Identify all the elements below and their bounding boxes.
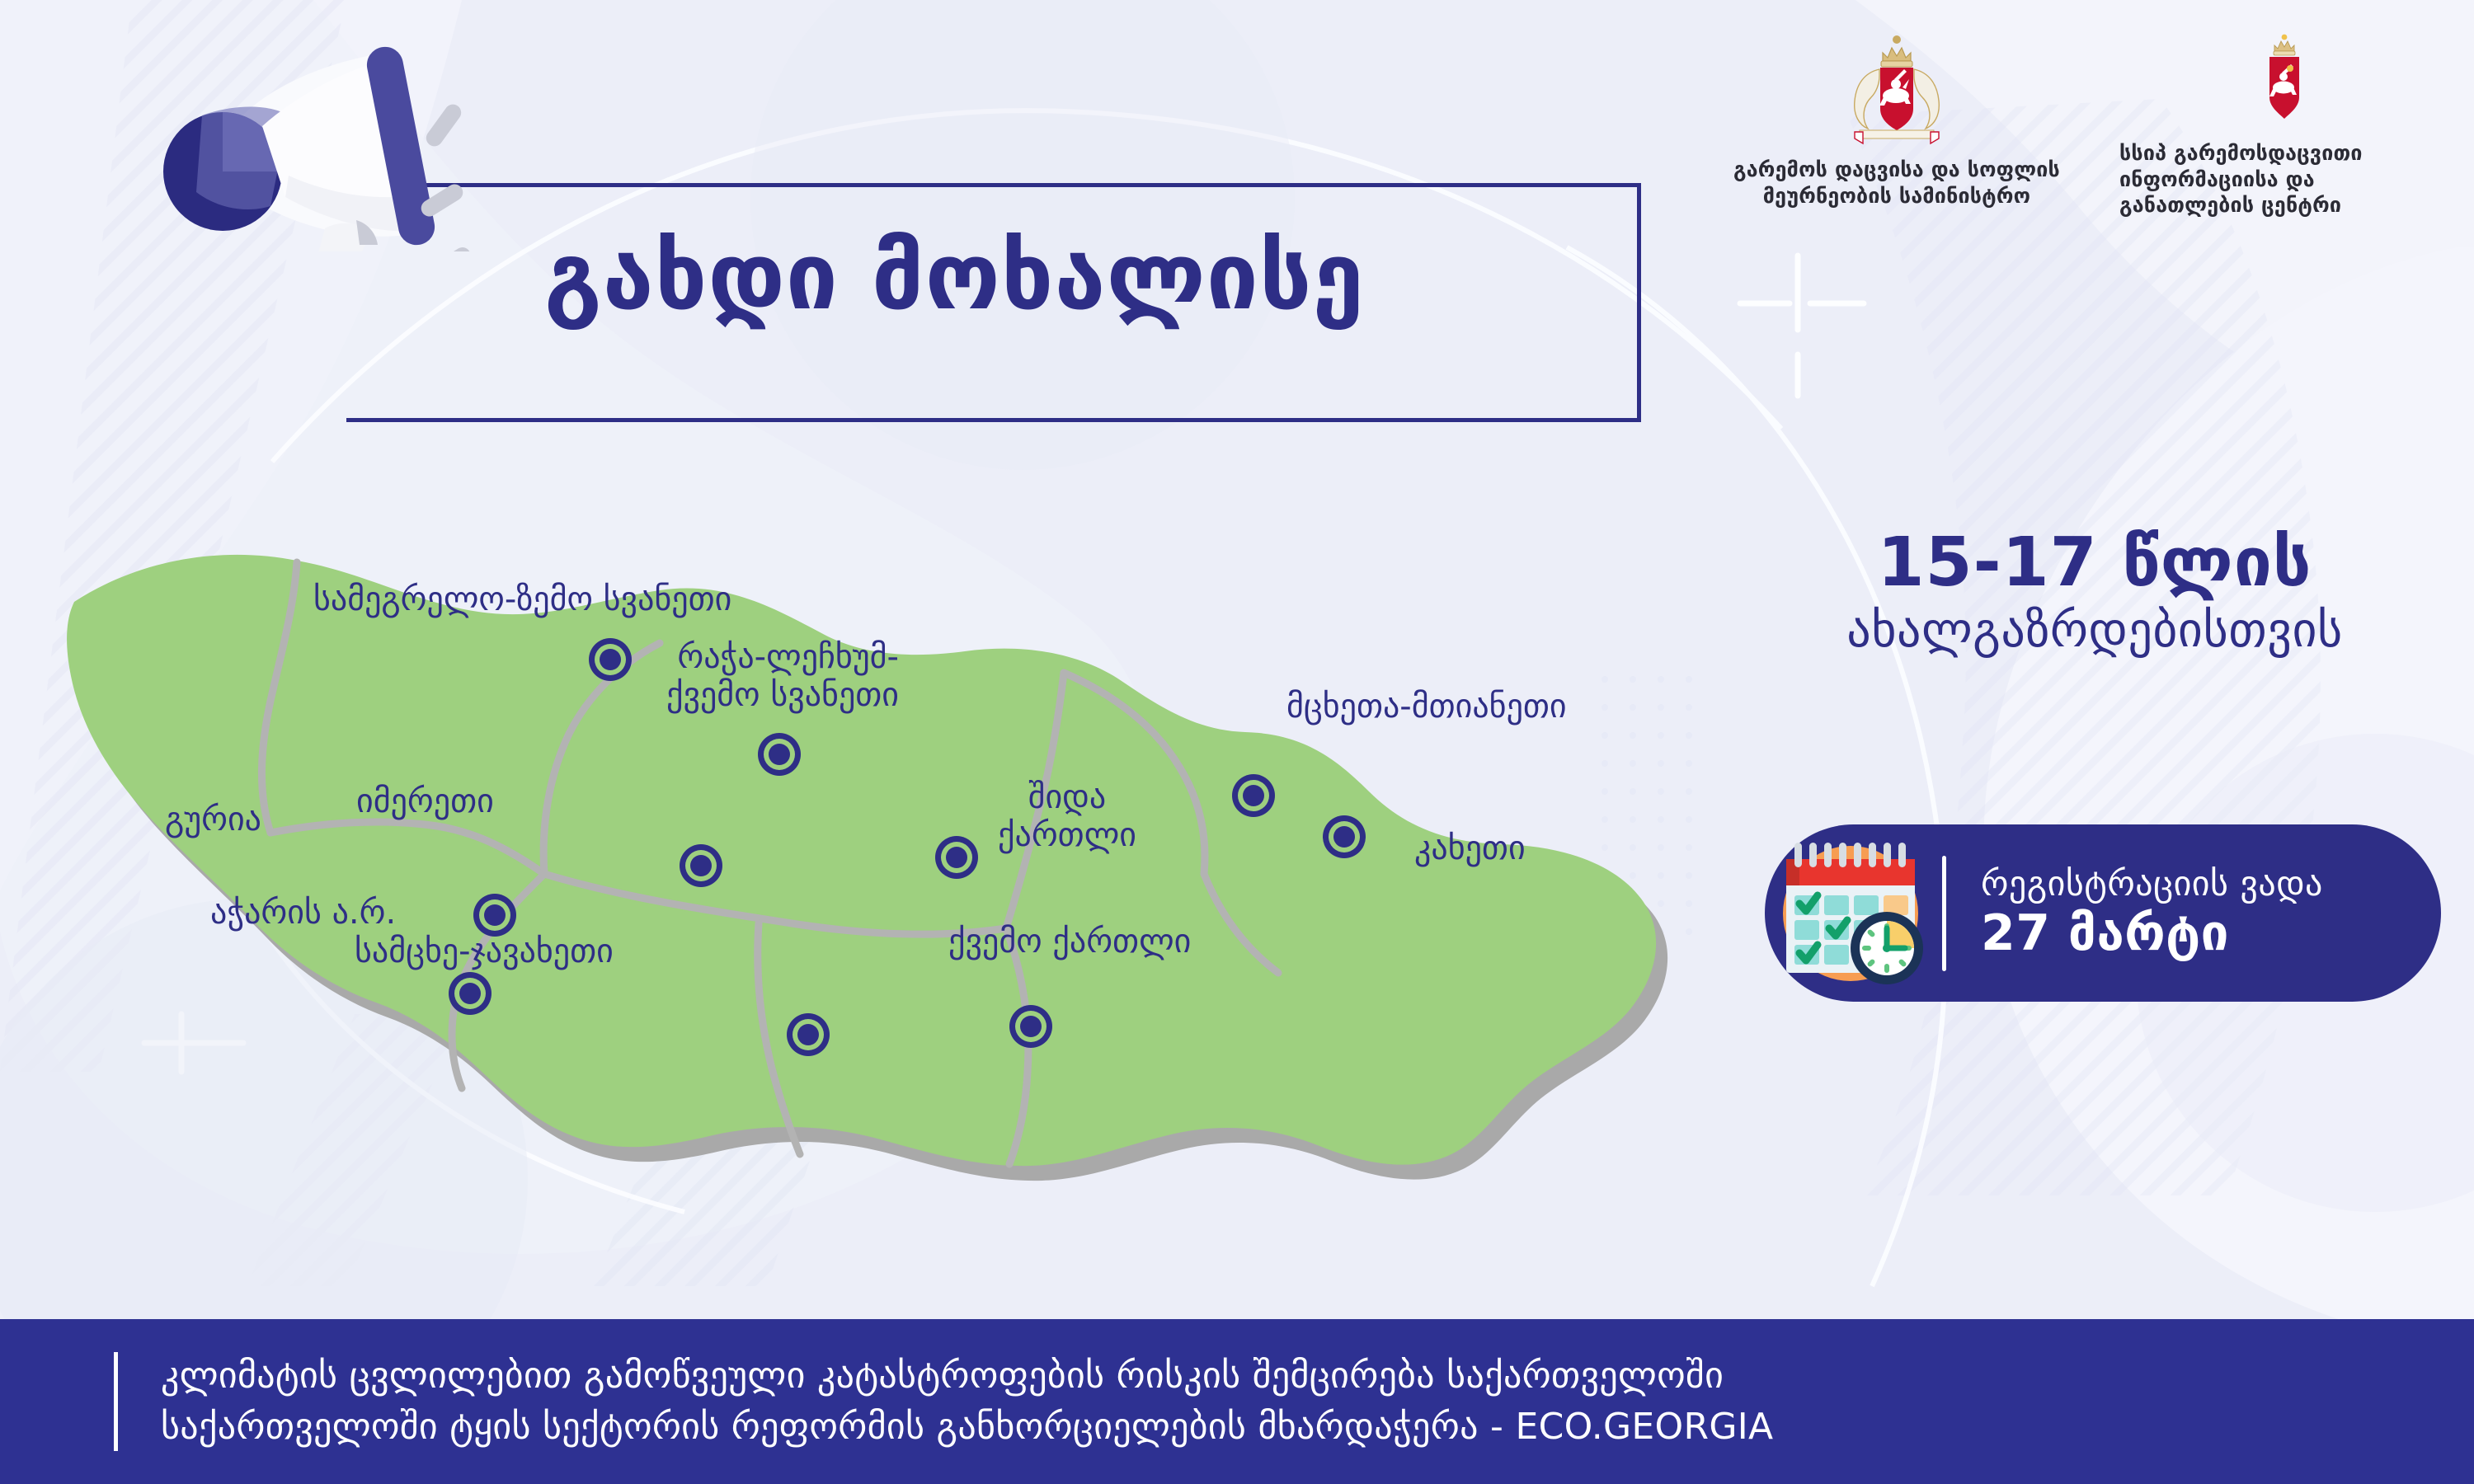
map-label-kvemo-kartli: ქვემო ქართლი <box>948 923 1191 961</box>
map-markers-layer <box>49 511 1748 1253</box>
marker-imereti[interactable] <box>680 844 722 887</box>
map-label-kakheti: კახეთი <box>1414 830 1526 868</box>
megaphone-icon <box>124 37 511 251</box>
registration-deadline-badge: რეგისტრაციის ვადა 27 მარტი <box>1765 824 2441 1002</box>
environmental-info-center-crest-icon <box>2256 33 2312 132</box>
map-label-mtskheta-mtianeti: მცხეთა-მთიანეთი <box>1286 688 1567 726</box>
age-range-sub: ახალგაზრდებისთვის <box>1732 604 2458 656</box>
marker-kakheti[interactable] <box>1323 815 1366 858</box>
calendar-clock-icon <box>1765 824 1942 1002</box>
center-logo-caption: სსიპ გარემოსდაცვითი ინფორმაციისა და განა… <box>2119 140 2449 218</box>
page-title: გახდი მოხალისე <box>544 231 1633 323</box>
ministry-caption-line2: მეურნეობის სამინისტრო <box>1733 183 2060 209</box>
age-range-main: 15-17 წლის <box>1732 528 2458 599</box>
marker-achara[interactable] <box>449 972 492 1015</box>
georgia-regions-map: სამეგრელო-ზემო სვანეთირაჭა-ლეჩხუმ- ქვემო… <box>49 511 1748 1253</box>
banner-text-block: კლიმატის ცვლილებით გამოწვეული კატასტროფე… <box>161 1350 1773 1453</box>
marker-samtskhe-javakheti[interactable] <box>787 1013 830 1056</box>
marker-mtskheta-mtianeti[interactable] <box>1232 774 1275 817</box>
ministry-logo-block: გარემოს დაცვისა და სოფლის მეურნეობის სამ… <box>1724 33 2070 256</box>
deadline-date: 27 მარტი <box>1981 906 2323 961</box>
georgia-state-coat-of-arms-icon <box>1843 33 1950 148</box>
center-caption-line2: ინფორმაციისა და <box>2119 167 2449 193</box>
marker-racha-lechkhumi[interactable] <box>758 733 801 776</box>
deadline-label: რეგისტრაციის ვადა <box>1981 865 2323 903</box>
map-label-shida-kartli: შიდა ქართლი <box>998 779 1136 854</box>
marker-shida-kartli[interactable] <box>935 836 978 879</box>
infographic-stage: გარემოს დაცვისა და სოფლის მეურნეობის სამ… <box>0 0 2474 1484</box>
map-label-guria: გურია <box>165 801 261 839</box>
ministry-logo-caption: გარემოს დაცვისა და სოფლის მეურნეობის სამ… <box>1733 157 2060 209</box>
age-range-block: 15-17 წლის ახალგაზრდებისთვის <box>1732 528 2458 656</box>
map-label-achara-ar: აჭარის ა.რ. <box>210 895 396 932</box>
ministry-caption-line1: გარემოს დაცვისა და სოფლის <box>1733 157 2060 183</box>
marker-guria[interactable] <box>473 894 516 937</box>
deadline-text-block: რეგისტრაციის ვადა 27 მარტი <box>1946 865 2323 961</box>
map-label-racha-lechkhumi-kvemo-svaneti: რაჭა-ლეჩხუმ- ქვემო სვანეთი <box>666 639 899 714</box>
center-logo-block: სსიპ გარემოსდაცვითი ინფორმაციისა და განა… <box>2119 33 2449 256</box>
banner-line-2: საქართველოში ტყის სექტორის რეფორმის განხ… <box>161 1402 1773 1453</box>
banner-line-1: კლიმატის ცვლილებით გამოწვეული კატასტროფე… <box>161 1350 1773 1402</box>
center-caption-line3: განათლების ცენტრი <box>2119 192 2449 218</box>
banner-accent-rule <box>114 1352 118 1451</box>
marker-samegrelo-zemo-svaneti[interactable] <box>589 638 632 681</box>
header-logos: გარემოს დაცვისა და სოფლის მეურნეობის სამ… <box>1724 33 2449 256</box>
marker-kvemo-kartli[interactable] <box>1009 1005 1052 1048</box>
bottom-banner: კლიმატის ცვლილებით გამოწვეული კატასტროფე… <box>0 1319 2474 1484</box>
center-caption-line1: სსიპ გარემოსდაცვითი <box>2119 140 2449 167</box>
map-label-samegrelo-zemo-svaneti: სამეგრელო-ზემო სვანეთი <box>313 581 731 619</box>
map-label-imereti: იმერეთი <box>356 783 494 821</box>
map-label-samtskhe-javakheti: სამცხე-ჯავახეთი <box>355 933 614 971</box>
